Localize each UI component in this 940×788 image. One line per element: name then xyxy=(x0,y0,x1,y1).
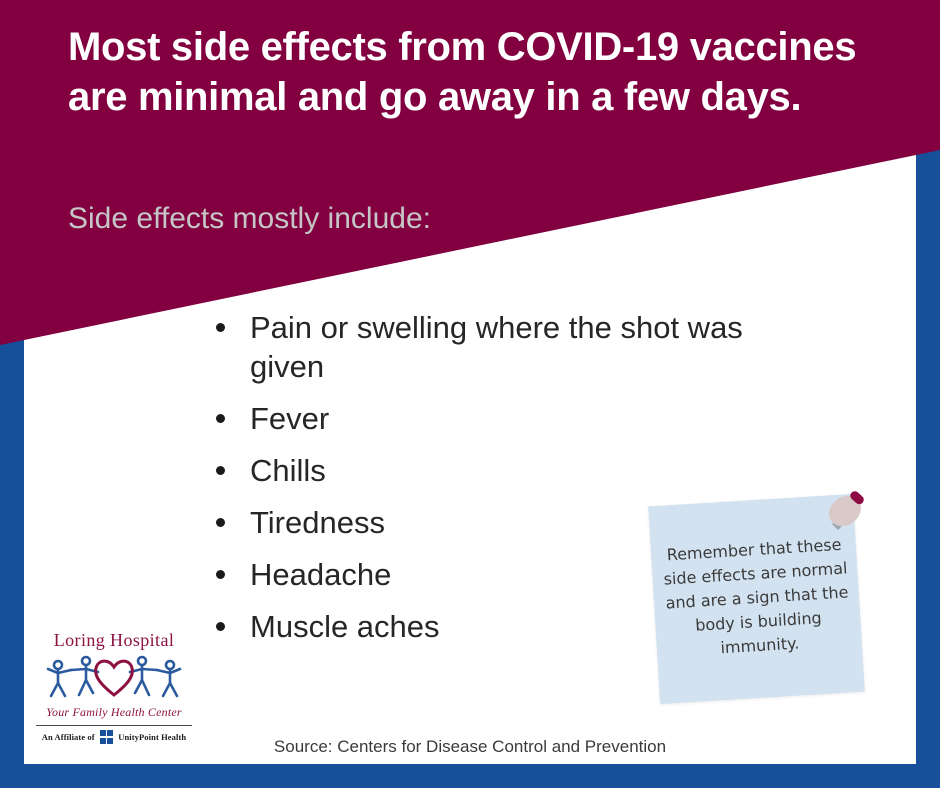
list-item-label: Fever xyxy=(250,401,329,436)
header-subtitle: Side effects mostly include: xyxy=(68,200,431,238)
logo-tagline: Your Family Health Center xyxy=(30,705,198,720)
bullet-dot-icon xyxy=(216,323,225,332)
list-item-label: Muscle aches xyxy=(250,609,440,644)
list-item: Chills xyxy=(210,451,810,490)
bullet-dot-icon xyxy=(216,466,225,475)
infographic-poster: Most side effects from COVID-19 vaccines… xyxy=(0,0,940,788)
frame-border-bottom xyxy=(0,764,940,788)
sticky-note: Remember that these side effects are nor… xyxy=(654,500,866,712)
bullet-dot-icon xyxy=(216,570,225,579)
logo-block: Loring Hospital xyxy=(30,630,198,744)
logo-divider xyxy=(36,725,192,726)
bullet-dot-icon xyxy=(216,518,225,527)
logo-hospital-name: Loring Hospital xyxy=(30,630,198,651)
list-item: Pain or swelling where the shot was give… xyxy=(210,308,810,386)
sticky-note-text: Remember that these side effects are nor… xyxy=(661,532,854,663)
list-item-label: Headache xyxy=(250,557,391,592)
bullet-dot-icon xyxy=(216,414,225,423)
list-item-label: Tiredness xyxy=(250,505,385,540)
pushpin-icon xyxy=(814,488,872,546)
list-item-label: Chills xyxy=(250,453,326,488)
list-item: Fever xyxy=(210,399,810,438)
bullet-dot-icon xyxy=(216,622,225,631)
source-citation: Source: Centers for Disease Control and … xyxy=(0,737,940,757)
people-heart-icon xyxy=(40,652,188,700)
list-item-label: Pain or swelling where the shot was give… xyxy=(250,310,743,384)
page-title: Most side effects from COVID-19 vaccines… xyxy=(68,22,868,122)
